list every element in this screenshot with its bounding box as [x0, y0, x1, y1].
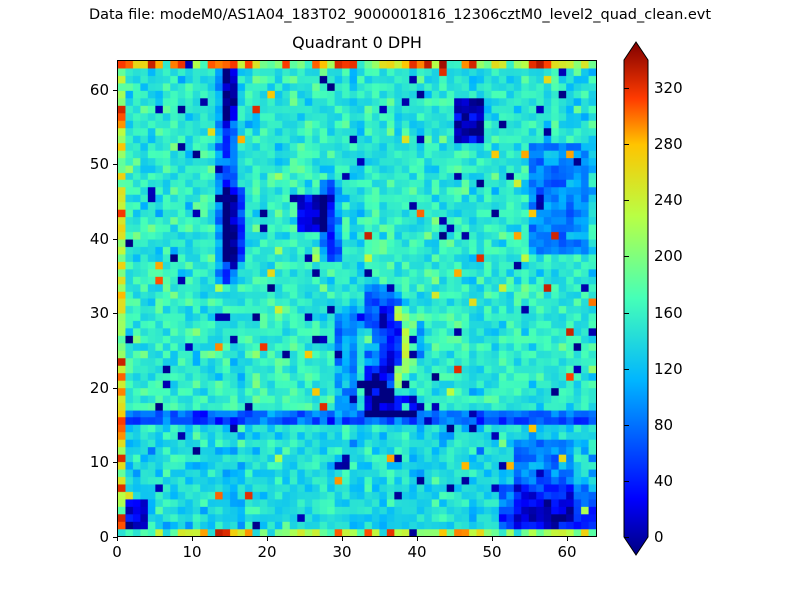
colorbar-tick-label: 120 [654, 361, 683, 377]
colorbar-tick-label: 240 [654, 192, 683, 208]
y-tick-label: 50 [55, 156, 109, 172]
y-tick-mark [113, 164, 117, 165]
y-tick-mark [113, 313, 117, 314]
colorbar-tick-mark [624, 200, 629, 201]
y-tick-mark [113, 388, 117, 389]
x-tick-label: 30 [332, 544, 351, 560]
x-tick-mark [342, 537, 343, 541]
x-tick-label: 0 [112, 544, 122, 560]
colorbar-tick-label: 80 [654, 417, 673, 433]
colorbar-tick-mark [624, 481, 629, 482]
colorbar-tick-label: 160 [654, 305, 683, 321]
colorbar-gradient [622, 42, 650, 555]
y-tick-label: 30 [55, 305, 109, 321]
colorbar-tick-mark [624, 313, 629, 314]
colorbar-tick-label: 40 [654, 473, 673, 489]
colorbar-tick-mark [624, 369, 629, 370]
x-tick-mark [192, 537, 193, 541]
x-tick-mark [492, 537, 493, 541]
x-tick-label: 50 [482, 544, 501, 560]
x-tick-label: 60 [557, 544, 576, 560]
y-tick-label: 60 [55, 82, 109, 98]
x-tick-mark [267, 537, 268, 541]
colorbar-tick-mark [624, 537, 629, 538]
detector-pixel-heatmap [118, 61, 596, 536]
colorbar-tick-label: 280 [654, 136, 683, 152]
colorbar-tick-label: 320 [654, 80, 683, 96]
colorbar-tick-mark [624, 425, 629, 426]
y-tick-label: 40 [55, 231, 109, 247]
y-tick-mark [113, 537, 117, 538]
colorbar-tick-mark [624, 144, 629, 145]
x-tick-mark [117, 537, 118, 541]
x-tick-label: 40 [407, 544, 426, 560]
x-tick-mark [567, 537, 568, 541]
colorbar: 04080120160200240280320 [624, 60, 648, 537]
y-tick-mark [113, 462, 117, 463]
x-tick-label: 20 [257, 544, 276, 560]
colorbar-tick-mark [624, 256, 629, 257]
y-tick-label: 0 [55, 529, 109, 545]
figure-canvas: Data file: modeM0/AS1A04_183T02_90000018… [0, 0, 800, 600]
x-tick-mark [417, 537, 418, 541]
colorbar-tick-mark [624, 88, 629, 89]
y-tick-mark [113, 90, 117, 91]
y-tick-mark [113, 239, 117, 240]
y-tick-label: 20 [55, 380, 109, 396]
page-title: Quadrant 0 DPH [117, 33, 597, 53]
colorbar-tick-label: 200 [654, 248, 683, 264]
heatmap-axes [117, 60, 597, 537]
x-tick-label: 10 [182, 544, 201, 560]
figure-suptitle: Data file: modeM0/AS1A04_183T02_90000018… [0, 6, 800, 24]
y-tick-label: 10 [55, 454, 109, 470]
colorbar-tick-label: 0 [654, 529, 664, 545]
